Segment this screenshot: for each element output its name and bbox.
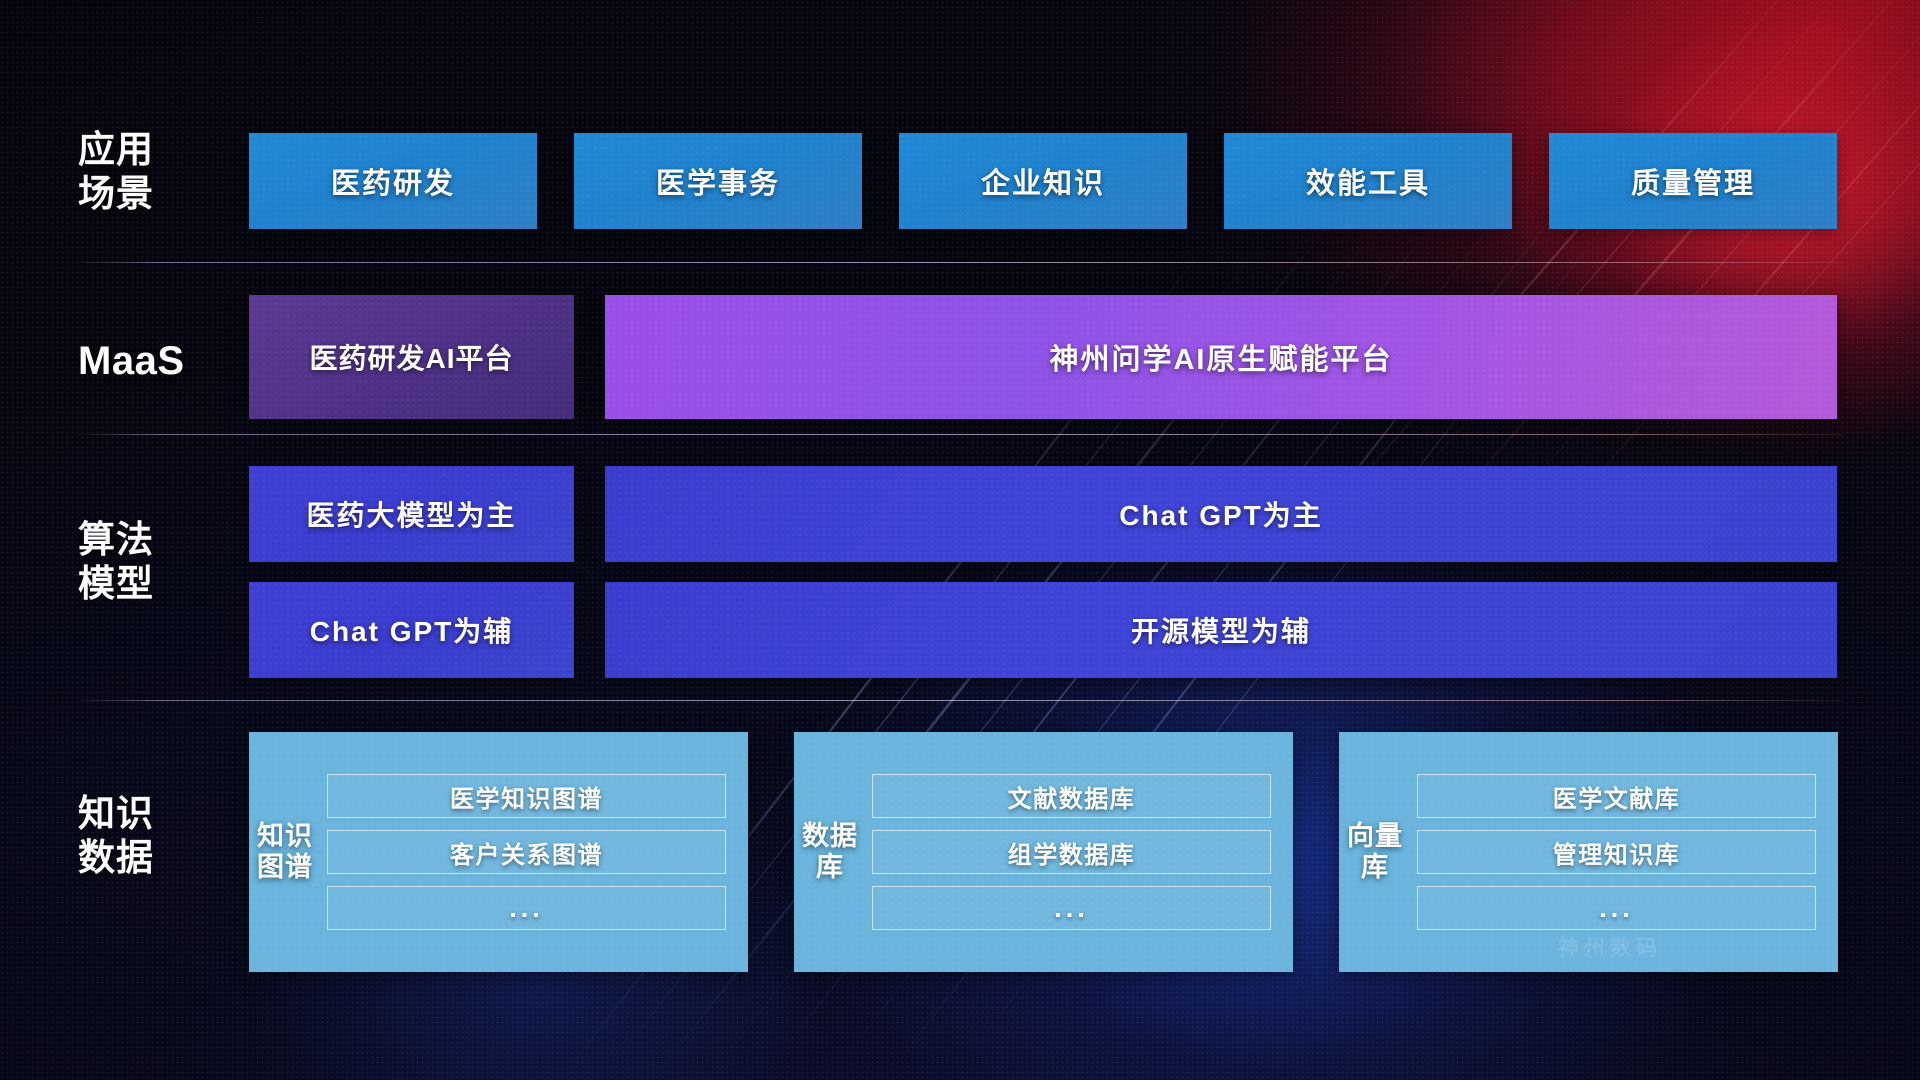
scenario-card-3-label: 企业知识 — [981, 160, 1105, 202]
maas-card-pharma-ai-platform[interactable]: 医药研发AI平台 — [249, 295, 574, 419]
knowledge-group-knowledge-graph-side-label: 知识图谱 — [249, 732, 321, 972]
architecture-diagram: 应用 场景 医药研发 医学事务 企业知识 效能工具 质量管理 MaaS — [0, 0, 1920, 1080]
watermark: 神州数码 — [1558, 932, 1662, 962]
knowledge-item-medical-literature-store[interactable]: 医学文献库 — [1417, 774, 1816, 818]
algorithm-card-chatgpt-secondary[interactable]: Chat GPT为辅 — [249, 582, 574, 678]
scenario-card-5-label: 质量管理 — [1631, 160, 1755, 202]
row-label-application-scenarios: 应用 场景 — [78, 128, 238, 215]
algorithm-card-pharma-llm-primary[interactable]: 医药大模型为主 — [249, 466, 574, 562]
knowledge-item-more-2[interactable]: ... — [872, 886, 1271, 930]
scenario-card-4[interactable]: 效能工具 — [1224, 133, 1512, 229]
knowledge-group-knowledge-graph[interactable]: 知识图谱 医学知识图谱 客户关系图谱 ... — [249, 732, 748, 972]
scenario-card-4-label: 效能工具 — [1306, 160, 1430, 202]
scenario-card-1[interactable]: 医药研发 — [249, 133, 537, 229]
knowledge-group-database[interactable]: 数据库 文献数据库 组学数据库 ... — [794, 732, 1293, 972]
knowledge-item-more-3[interactable]: ... — [1417, 886, 1816, 930]
algorithm-card-pharma-llm-primary-label: 医药大模型为主 — [306, 494, 516, 534]
knowledge-group-database-items: 文献数据库 组学数据库 ... — [866, 732, 1293, 972]
knowledge-item-literature-database[interactable]: 文献数据库 — [872, 774, 1271, 818]
maas-card-shenzhou-wenxue-platform-label: 神州问学AI原生赋能平台 — [1049, 336, 1392, 378]
scenario-card-3[interactable]: 企业知识 — [899, 133, 1187, 229]
algorithm-card-chatgpt-secondary-label: Chat GPT为辅 — [310, 610, 514, 650]
scenario-card-2-label: 医学事务 — [656, 160, 780, 202]
row-label-knowledge-data: 知识 数据 — [78, 792, 238, 879]
maas-card-shenzhou-wenxue-platform[interactable]: 神州问学AI原生赋能平台 — [605, 295, 1837, 419]
knowledge-group-database-side-label: 数据库 — [794, 732, 866, 972]
divider-2 — [72, 434, 1842, 435]
divider-1 — [72, 262, 1842, 263]
knowledge-item-medical-knowledge-graph[interactable]: 医学知识图谱 — [327, 774, 726, 818]
knowledge-item-management-knowledge-store[interactable]: 管理知识库 — [1417, 830, 1816, 874]
divider-3 — [72, 700, 1842, 701]
scenario-card-5[interactable]: 质量管理 — [1549, 133, 1837, 229]
row-label-maas: MaaS — [78, 338, 238, 385]
knowledge-group-vector-store-side-label: 向量库 — [1339, 732, 1411, 972]
scenario-card-1-label: 医药研发 — [331, 160, 455, 202]
algorithm-card-opensource-secondary-label: 开源模型为辅 — [1131, 610, 1311, 650]
knowledge-item-more-1[interactable]: ... — [327, 886, 726, 930]
scenario-card-2[interactable]: 医学事务 — [574, 133, 862, 229]
knowledge-group-knowledge-graph-items: 医学知识图谱 客户关系图谱 ... — [321, 732, 748, 972]
row-label-algorithm-models: 算法 模型 — [78, 518, 238, 605]
algorithm-card-chatgpt-primary[interactable]: Chat GPT为主 — [605, 466, 1837, 562]
algorithm-card-opensource-secondary[interactable]: 开源模型为辅 — [605, 582, 1837, 678]
knowledge-item-omics-database[interactable]: 组学数据库 — [872, 830, 1271, 874]
maas-card-pharma-ai-platform-label: 医药研发AI平台 — [309, 337, 513, 377]
algorithm-card-chatgpt-primary-label: Chat GPT为主 — [1119, 494, 1323, 534]
knowledge-item-customer-relation-graph[interactable]: 客户关系图谱 — [327, 830, 726, 874]
